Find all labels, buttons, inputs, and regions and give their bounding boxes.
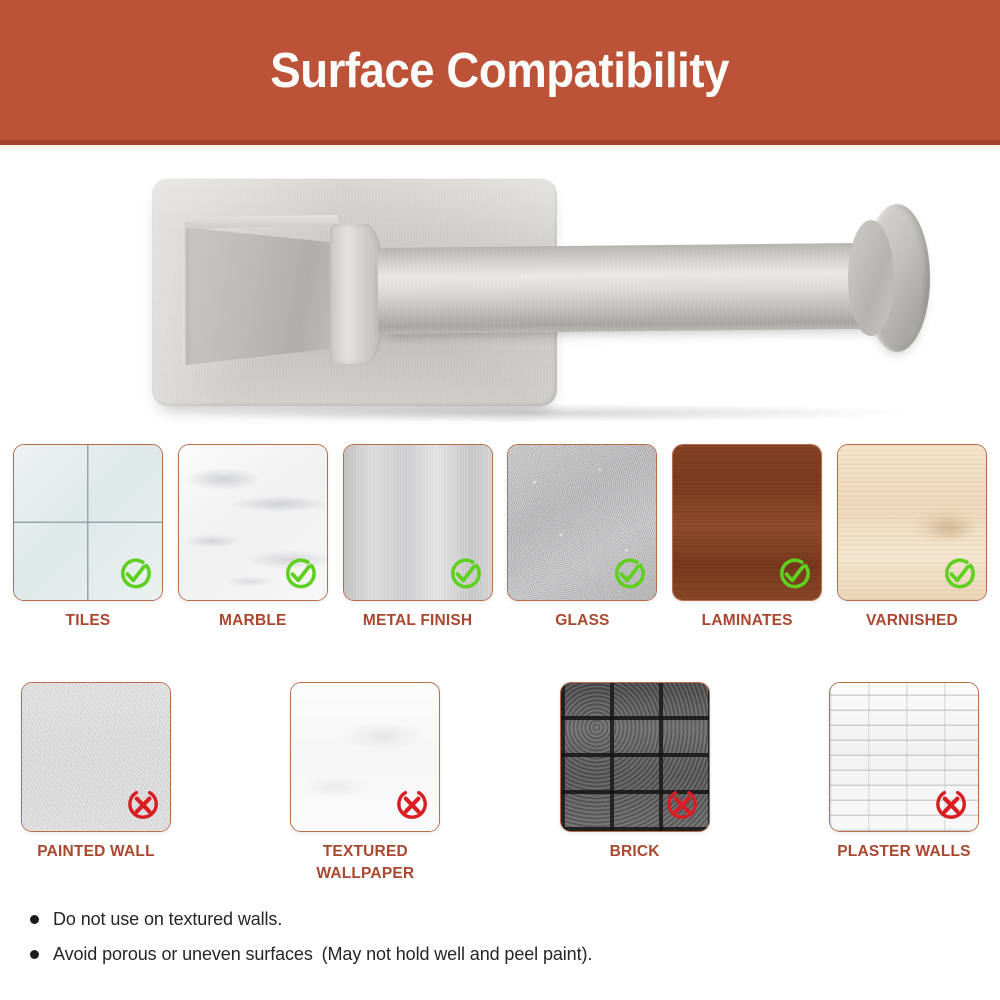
cross-icon [931, 785, 971, 825]
surface-label: MARBLE [219, 610, 287, 632]
usage-notes-list: Do not use on textured walls. Avoid poro… [30, 908, 930, 977]
page-title: Surface Compatibility [271, 43, 730, 99]
cross-icon [662, 785, 702, 825]
surface-cell-varnished: VARNISHED [836, 444, 988, 632]
plaster-walls-swatch [829, 682, 979, 832]
check-icon [115, 554, 155, 594]
surface-label: VARNISHED [866, 610, 958, 632]
cross-icon [392, 785, 432, 825]
holder-bar [378, 243, 889, 334]
surface-cell-glass: GLASS [506, 444, 658, 632]
bracket-body [186, 220, 344, 368]
list-item: Avoid porous or uneven surfaces (May not… [30, 943, 930, 966]
check-icon [609, 554, 649, 594]
surface-cell-marble: MARBLE [177, 444, 329, 632]
surface-cell-textured-wallpaper: TEXTURED WALLPAPER [281, 682, 449, 886]
surface-label: BRICK [610, 841, 660, 863]
marble-swatch [178, 444, 328, 601]
surface-cell-tiles: TILES [12, 444, 164, 632]
surface-label: PLASTER WALLS [837, 841, 971, 863]
incompatible-surfaces-row: PAINTED WALL TEXTURED WALLPAPER BRIC [0, 682, 1000, 886]
note-text: Avoid porous or uneven surfaces (May not… [53, 943, 592, 966]
metal-finish-swatch [343, 444, 493, 601]
surface-cell-painted-wall: PAINTED WALL [12, 682, 180, 886]
laminates-swatch [672, 444, 822, 601]
surface-label: TEXTURED WALLPAPER [316, 841, 414, 886]
check-icon [445, 554, 485, 594]
surface-label: TILES [66, 610, 111, 632]
holder-bar-grain [378, 243, 889, 334]
surface-cell-plaster-walls: PLASTER WALLS [820, 682, 988, 886]
surface-label: GLASS [555, 610, 609, 632]
list-item: Do not use on textured walls. [30, 908, 930, 931]
bullet-icon [30, 915, 39, 924]
surface-cell-laminates: LAMINATES [671, 444, 823, 632]
bullet-icon [30, 950, 39, 959]
check-icon [939, 554, 979, 594]
glass-swatch [507, 444, 657, 601]
note-text: Do not use on textured walls. [53, 908, 282, 931]
surface-label: PAINTED WALL [37, 841, 155, 863]
surface-cell-metal-finish: METAL FINISH [342, 444, 494, 632]
painted-wall-swatch [21, 682, 171, 832]
bar-end-cap-inner [848, 220, 894, 336]
surface-cell-brick: BRICK [551, 682, 719, 886]
check-icon [774, 554, 814, 594]
brick-swatch [560, 682, 710, 832]
product-hero-image [0, 152, 1000, 434]
surface-label: LAMINATES [702, 610, 793, 632]
surface-label: METAL FINISH [363, 610, 472, 632]
tiles-swatch [13, 444, 163, 601]
check-icon [280, 554, 320, 594]
product-drop-shadow [170, 404, 910, 422]
cross-icon [123, 785, 163, 825]
compatible-surfaces-row: TILES MARBLE METAL FINISH [0, 444, 1000, 632]
varnished-swatch [837, 444, 987, 601]
textured-wallpaper-swatch [290, 682, 440, 832]
header-banner: Surface Compatibility [0, 0, 1000, 145]
